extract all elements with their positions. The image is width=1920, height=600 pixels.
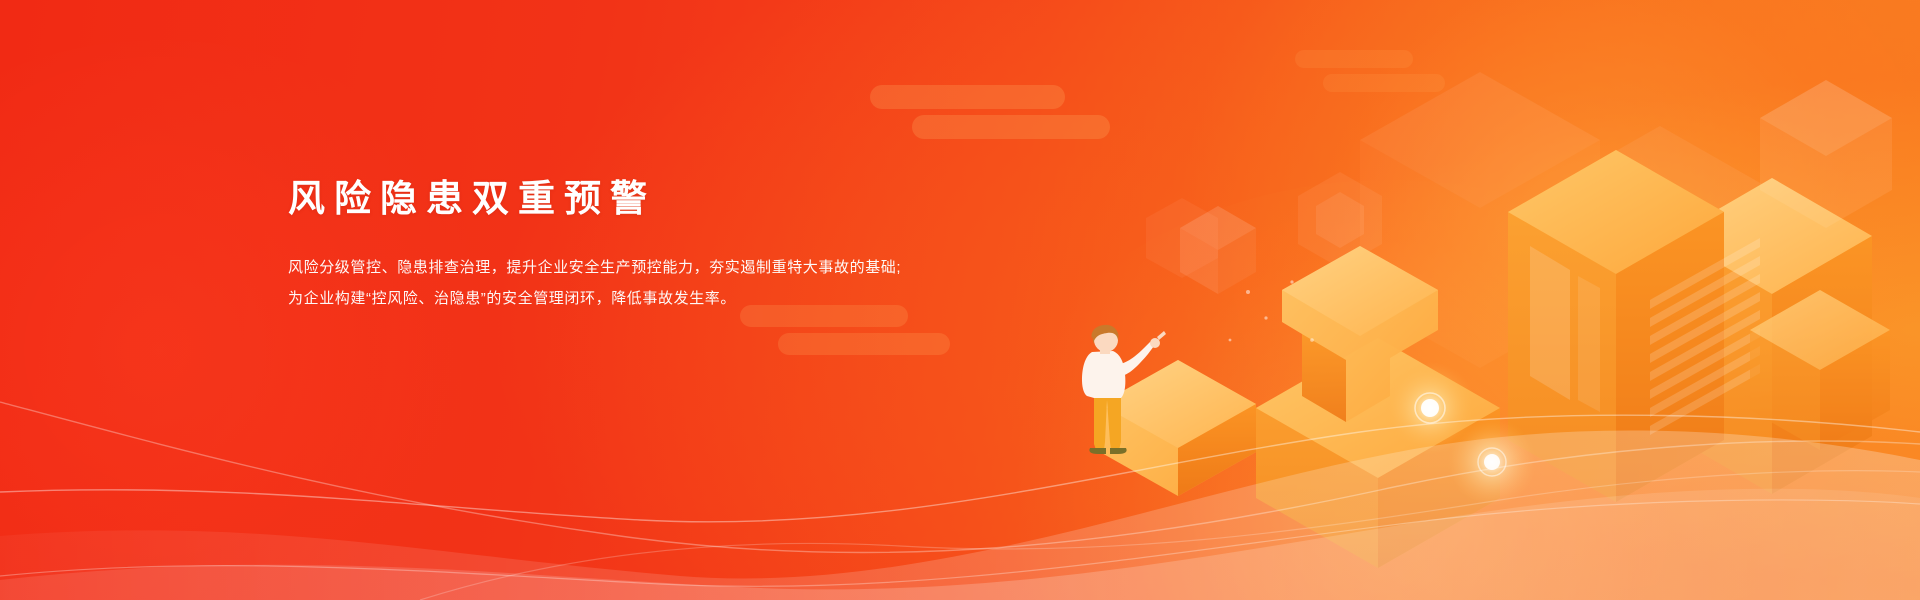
person-illustration	[1082, 325, 1166, 454]
cloud-icon	[1295, 50, 1445, 98]
glow-dot-icon	[1448, 418, 1536, 506]
background-glow-left	[0, 40, 520, 600]
subtitle-line-1: 风险分级管控、隐患排查治理，提升企业安全生产预控能力，夯实遏制重特大事故的基础;	[288, 252, 1048, 283]
hero-banner: 风险隐患双重预警 风险分级管控、隐患排查治理，提升企业安全生产预控能力，夯实遏制…	[0, 0, 1920, 600]
hero-subtitle: 风险分级管控、隐患排查治理，提升企业安全生产预控能力，夯实遏制重特大事故的基础;…	[288, 222, 1048, 314]
background-glow-bottom-right	[980, 180, 1800, 600]
background-glow-top-right	[1140, 0, 1920, 600]
page-title: 风险隐患双重预警	[288, 176, 1048, 222]
glow-dot-icon	[1384, 362, 1476, 454]
cube-icon	[1180, 206, 1256, 294]
hexagon-icon	[1146, 198, 1218, 278]
hero-copy: 风险隐患双重预警 风险分级管控、隐患排查治理，提升企业安全生产预控能力，夯实遏制…	[288, 176, 1048, 314]
hexagon-icon	[1298, 172, 1382, 268]
isometric-data-center-illustration	[1060, 0, 1920, 600]
wave-decoration	[0, 340, 1920, 600]
cloud-icon	[870, 85, 1110, 145]
subtitle-line-2: 为企业构建“控风险、治隐患”的安全管理闭环，降低事故发生率。	[288, 283, 1048, 314]
